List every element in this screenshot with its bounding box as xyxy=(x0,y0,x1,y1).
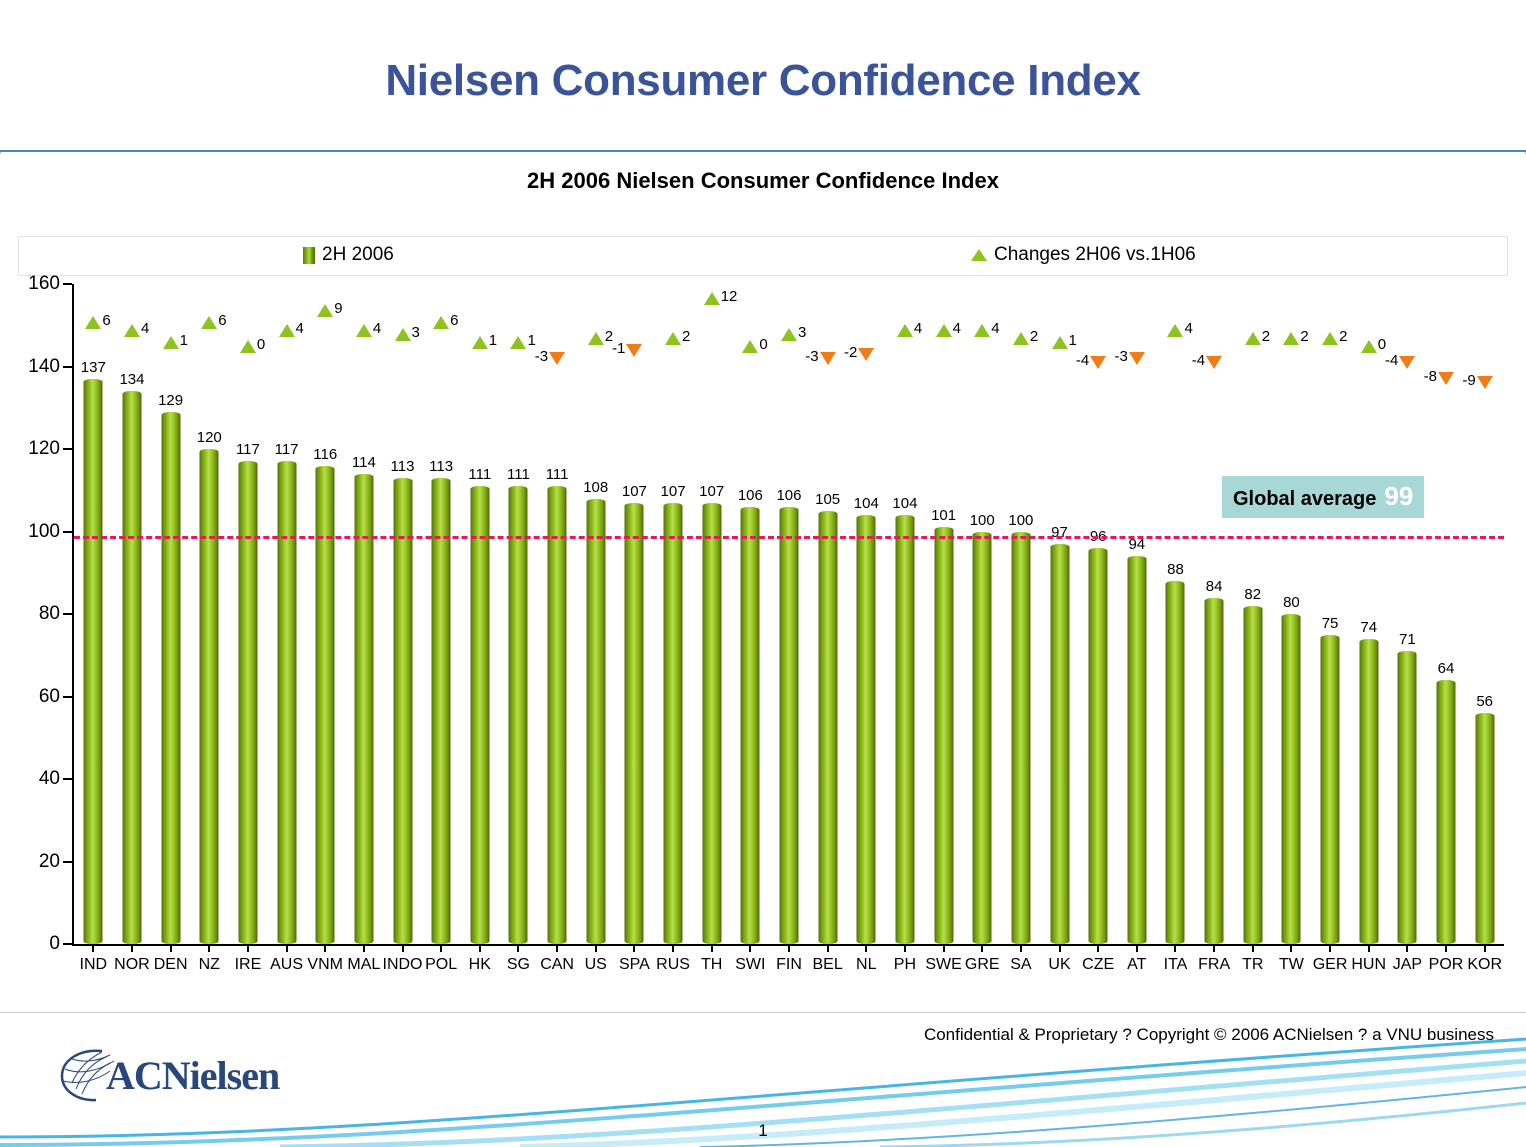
chart-bar[interactable] xyxy=(548,486,567,944)
chart-category-slot: 1014SWE xyxy=(924,284,963,944)
y-axis-tick-mark xyxy=(63,696,72,698)
chart-bar[interactable] xyxy=(1011,532,1030,945)
change-value-label: 2 xyxy=(1030,328,1038,345)
change-marker-down[interactable] xyxy=(858,348,874,361)
change-value-label: 4 xyxy=(373,320,381,337)
y-axis-tick-mark xyxy=(63,943,72,945)
bar-value-label: 137 xyxy=(81,359,106,376)
x-axis-tick-mark xyxy=(1406,944,1408,952)
change-value-label: -9 xyxy=(1462,372,1475,389)
change-value-label: 6 xyxy=(102,312,110,329)
change-value-label: -3 xyxy=(805,348,818,365)
chart-bar[interactable] xyxy=(1243,606,1262,944)
bar-value-label: 101 xyxy=(931,507,956,524)
change-marker-down[interactable] xyxy=(1129,352,1145,365)
global-average-value: 99 xyxy=(1384,481,1413,512)
change-value-label: 3 xyxy=(798,324,806,341)
legend-item-bars[interactable]: 2H 2006 xyxy=(303,244,394,266)
change-value-label: -3 xyxy=(1114,348,1127,365)
change-marker-up[interactable] xyxy=(124,324,140,337)
chart-bar[interactable] xyxy=(1398,651,1417,944)
chart-category-slot: 1144MAL xyxy=(345,284,384,944)
change-marker-up[interactable] xyxy=(1322,332,1338,345)
x-axis-tick-label: NOR xyxy=(114,956,150,974)
bar-value-label: 94 xyxy=(1128,536,1145,553)
y-axis-tick-label: 0 xyxy=(14,933,60,955)
change-value-label: 4 xyxy=(1184,320,1192,337)
chart-category-slot: 1206NZ xyxy=(190,284,229,944)
x-axis-tick-mark xyxy=(865,944,867,952)
chart-category-slot: 1082US xyxy=(576,284,615,944)
chart-category-slot: 107-1SPA xyxy=(615,284,654,944)
change-marker-up[interactable] xyxy=(510,336,526,349)
y-axis-tick-label: 120 xyxy=(14,438,60,460)
change-value-label: 2 xyxy=(1300,328,1308,345)
chart-plot-wrapper: 020406080100120140160 1376IND1344NOR1291… xyxy=(0,284,1526,984)
y-axis: 020406080100120140160 xyxy=(24,284,72,944)
change-value-label: 4 xyxy=(914,320,922,337)
slide-body: 2H 2006 Nielsen Consumer Confidence Inde… xyxy=(0,154,1526,1012)
y-axis-tick-mark xyxy=(63,861,72,863)
bar-value-label: 88 xyxy=(1167,561,1184,578)
x-axis-tick-label: NL xyxy=(856,956,876,974)
bar-value-label: 82 xyxy=(1244,586,1261,603)
change-marker-up[interactable] xyxy=(936,324,952,337)
chart-bar[interactable] xyxy=(277,461,296,944)
chart-category-slot: 1133INDO xyxy=(383,284,422,944)
chart-legend: 2H 2006 Changes 2H06 vs.1H06 xyxy=(18,236,1508,276)
chart-category-slot: 1291DEN xyxy=(151,284,190,944)
change-value-label: 1 xyxy=(489,332,497,349)
chart-category-slot: 1002SA xyxy=(1002,284,1041,944)
x-axis-tick-mark xyxy=(595,944,597,952)
bar-value-label: 71 xyxy=(1399,631,1416,648)
chart-category-slot: 1060SWI xyxy=(731,284,770,944)
x-axis-tick-mark xyxy=(1213,944,1215,952)
change-marker-down[interactable] xyxy=(1477,376,1493,389)
chart-bar[interactable] xyxy=(161,412,180,944)
slide-footer: Confidential & Proprietary ? Copyright ©… xyxy=(0,1012,1526,1146)
x-axis-tick-mark xyxy=(92,944,94,952)
change-value-label: -8 xyxy=(1424,368,1437,385)
chart-category-slot: 10712TH xyxy=(692,284,731,944)
change-marker-down[interactable] xyxy=(549,352,565,365)
y-axis-tick-mark xyxy=(63,778,72,780)
x-axis-tick-label: SG xyxy=(507,956,530,974)
y-axis-tick-label: 80 xyxy=(14,603,60,625)
chart-category-slot: 94-3AT xyxy=(1118,284,1157,944)
legend-label-bars: 2H 2006 xyxy=(322,244,394,266)
chart-bar[interactable] xyxy=(84,379,103,944)
change-value-label: -2 xyxy=(844,344,857,361)
x-axis-tick-mark xyxy=(1484,944,1486,952)
chart-bar[interactable] xyxy=(393,478,412,944)
change-marker-up[interactable] xyxy=(433,316,449,329)
chart-category-slot: 1170IRE xyxy=(229,284,268,944)
chart-bar[interactable] xyxy=(664,503,683,944)
x-axis-tick-mark xyxy=(1445,944,1447,952)
y-axis-tick-label: 100 xyxy=(14,521,60,543)
change-value-label: 1 xyxy=(527,332,535,349)
x-axis-tick-label: SWE xyxy=(925,956,961,974)
chart-title: 2H 2006 Nielsen Consumer Confidence Inde… xyxy=(0,168,1526,194)
change-marker-up[interactable] xyxy=(1013,332,1029,345)
chart-bar[interactable] xyxy=(1321,635,1340,944)
x-axis-tick-label: RUS xyxy=(656,956,690,974)
chart-category-slot: 752GER xyxy=(1311,284,1350,944)
x-axis-tick-label: SPA xyxy=(619,956,650,974)
chart-category-slot: 104-2NL xyxy=(847,284,886,944)
chart-bar[interactable] xyxy=(1437,680,1456,944)
chart-category-slot: 1063FIN xyxy=(770,284,809,944)
x-axis-tick-label: POR xyxy=(1429,956,1464,974)
change-value-label: -4 xyxy=(1076,352,1089,369)
change-value-label: 0 xyxy=(1378,336,1386,353)
x-axis-tick-label: CAN xyxy=(540,956,574,974)
y-axis-tick-mark xyxy=(63,613,72,615)
bar-value-label: 100 xyxy=(970,512,995,529)
bar-value-label: 106 xyxy=(738,487,763,504)
slide-header: Nielsen Consumer Confidence Index xyxy=(0,0,1526,152)
change-marker-up[interactable] xyxy=(665,332,681,345)
y-axis-tick-mark xyxy=(63,366,72,368)
global-average-label: Global average xyxy=(1233,488,1376,511)
x-axis-tick-mark xyxy=(1059,944,1061,952)
x-axis-tick-label: FRA xyxy=(1198,956,1230,974)
x-axis-tick-label: ITA xyxy=(1164,956,1188,974)
x-axis-tick-mark xyxy=(402,944,404,952)
y-axis-tick-mark xyxy=(63,531,72,533)
bar-value-label: 64 xyxy=(1438,660,1455,677)
x-axis-tick-mark xyxy=(1020,944,1022,952)
x-axis-tick-label: VNM xyxy=(307,956,343,974)
x-axis-tick-mark xyxy=(943,944,945,952)
y-axis-tick-mark xyxy=(63,448,72,450)
x-axis-tick-mark xyxy=(1252,944,1254,952)
triangle-up-icon xyxy=(971,249,987,261)
x-axis-tick-mark xyxy=(788,944,790,952)
y-axis-tick-mark xyxy=(63,283,72,285)
change-marker-up[interactable] xyxy=(1052,336,1068,349)
change-value-label: 4 xyxy=(296,320,304,337)
chart-category-slot: 64-8POR xyxy=(1427,284,1466,944)
chart-category-slot: 740HUN xyxy=(1349,284,1388,944)
change-marker-up[interactable] xyxy=(974,324,990,337)
chart-bar[interactable] xyxy=(238,461,257,944)
change-value-label: -3 xyxy=(535,348,548,365)
chart-category-slot: 971UK xyxy=(1040,284,1079,944)
chart-bar[interactable] xyxy=(1205,598,1224,945)
chart-bar[interactable] xyxy=(354,474,373,944)
change-marker-up[interactable] xyxy=(317,304,333,317)
chart-bar[interactable] xyxy=(122,391,141,944)
chart-bar[interactable] xyxy=(1166,581,1185,944)
change-marker-up[interactable] xyxy=(201,316,217,329)
x-axis-tick-label: FIN xyxy=(776,956,802,974)
x-axis-tick-mark xyxy=(363,944,365,952)
chart-category-slot: 71-4JAP xyxy=(1388,284,1427,944)
bar-value-label: 111 xyxy=(546,466,569,483)
x-axis-tick-mark xyxy=(904,944,906,952)
x-axis-tick-mark xyxy=(208,944,210,952)
x-axis-tick-label: GRE xyxy=(965,956,1000,974)
change-value-label: 1 xyxy=(1069,332,1077,349)
bar-value-label: 100 xyxy=(1008,512,1033,529)
x-axis-tick-label: GER xyxy=(1313,956,1348,974)
chart-bar[interactable] xyxy=(1089,548,1108,944)
x-axis-tick-label: AUS xyxy=(270,956,303,974)
bar-value-label: 104 xyxy=(892,495,917,512)
x-axis-tick-mark xyxy=(1368,944,1370,952)
x-axis-tick-label: CZE xyxy=(1082,956,1114,974)
legend-label-changes: Changes 2H06 vs.1H06 xyxy=(994,244,1196,266)
chart-bar[interactable] xyxy=(432,478,451,944)
chart-category-slot: 96-4CZE xyxy=(1079,284,1118,944)
chart-bar[interactable] xyxy=(973,532,992,945)
x-axis-tick-label: HK xyxy=(469,956,491,974)
chart-bar[interactable] xyxy=(818,511,837,944)
chart-category-slot: 1111SG xyxy=(499,284,538,944)
change-value-label: -1 xyxy=(612,340,625,357)
chart-category-slot: 105-3BEL xyxy=(808,284,847,944)
chart-category-slot: 822TR xyxy=(1233,284,1272,944)
x-axis-tick-mark xyxy=(827,944,829,952)
x-axis-tick-label: KOR xyxy=(1467,956,1502,974)
x-axis-tick-label: MAL xyxy=(347,956,380,974)
bar-value-label: 107 xyxy=(699,483,724,500)
x-axis-tick-label: SA xyxy=(1010,956,1031,974)
x-axis-tick-mark xyxy=(1136,944,1138,952)
chart-category-slot: 802TW xyxy=(1272,284,1311,944)
chart-bar[interactable] xyxy=(200,449,219,944)
change-value-label: 0 xyxy=(759,336,767,353)
bar-value-label: 84 xyxy=(1206,578,1223,595)
chart-bar[interactable] xyxy=(1359,639,1378,944)
chart-bar[interactable] xyxy=(895,515,914,944)
chart-category-slot: 1072RUS xyxy=(654,284,693,944)
change-value-label: 3 xyxy=(412,324,420,341)
x-axis-tick-label: TR xyxy=(1242,956,1263,974)
change-marker-down[interactable] xyxy=(626,344,642,357)
change-marker-up[interactable] xyxy=(897,324,913,337)
y-axis-tick-label: 60 xyxy=(14,686,60,708)
acnielsen-wordmark: ACNielsen xyxy=(106,1052,279,1099)
chart-bar[interactable] xyxy=(1050,544,1069,944)
change-marker-up[interactable] xyxy=(163,336,179,349)
change-marker-up[interactable] xyxy=(85,316,101,329)
x-axis-tick-mark xyxy=(672,944,674,952)
chart-bar[interactable] xyxy=(1475,713,1494,944)
x-axis-tick-label: BEL xyxy=(813,956,843,974)
bar-value-label: 107 xyxy=(661,483,686,500)
change-marker-down[interactable] xyxy=(1090,356,1106,369)
y-axis-tick-label: 20 xyxy=(14,851,60,873)
change-marker-up[interactable] xyxy=(1361,340,1377,353)
x-axis-tick-label: INDO xyxy=(383,956,423,974)
bar-value-label: 107 xyxy=(622,483,647,500)
x-axis-tick-label: SWI xyxy=(735,956,765,974)
bar-value-label: 117 xyxy=(236,441,260,458)
chart-bar[interactable] xyxy=(779,507,798,944)
y-axis-tick-label: 140 xyxy=(14,356,60,378)
x-axis-tick-mark xyxy=(286,944,288,952)
x-axis-tick-label: NZ xyxy=(199,956,220,974)
change-marker-up[interactable] xyxy=(279,324,295,337)
chart-category-slot: 1136POL xyxy=(422,284,461,944)
bar-value-label: 74 xyxy=(1360,619,1377,636)
x-axis-tick-label: DEN xyxy=(154,956,188,974)
legend-item-changes[interactable]: Changes 2H06 vs.1H06 xyxy=(971,244,1196,266)
change-marker-up[interactable] xyxy=(240,340,256,353)
chart-category-slot: 1344NOR xyxy=(113,284,152,944)
y-axis-tick-label: 40 xyxy=(14,768,60,790)
x-axis-tick-mark xyxy=(1174,944,1176,952)
page-title: Nielsen Consumer Confidence Index xyxy=(0,56,1526,106)
change-marker-up[interactable] xyxy=(472,336,488,349)
x-axis-tick-mark xyxy=(711,944,713,952)
chart-bar[interactable] xyxy=(509,486,528,944)
bar-value-label: 104 xyxy=(854,495,879,512)
change-value-label: -4 xyxy=(1385,352,1398,369)
change-value-label: 0 xyxy=(257,336,265,353)
x-axis-tick-mark xyxy=(749,944,751,952)
x-axis-tick-label: TH xyxy=(701,956,722,974)
chart-category-slot: 884ITA xyxy=(1156,284,1195,944)
change-value-label: 2 xyxy=(1339,328,1347,345)
chart-category-slot: 1111HK xyxy=(460,284,499,944)
change-value-label: -4 xyxy=(1192,352,1205,369)
bar-value-label: 120 xyxy=(197,429,222,446)
change-value-label: 4 xyxy=(141,320,149,337)
x-axis-tick-label: UK xyxy=(1048,956,1070,974)
change-value-label: 9 xyxy=(334,300,342,317)
chart-category-slot: 1174AUS xyxy=(267,284,306,944)
bar-swatch-icon xyxy=(303,247,315,264)
change-marker-up[interactable] xyxy=(1167,324,1183,337)
x-axis-tick-mark xyxy=(1097,944,1099,952)
chart-bar[interactable] xyxy=(934,527,953,944)
change-value-label: 4 xyxy=(953,320,961,337)
x-axis-tick-label: IND xyxy=(80,956,108,974)
bar-value-label: 75 xyxy=(1322,615,1339,632)
x-axis-tick-mark xyxy=(517,944,519,952)
change-marker-up[interactable] xyxy=(1245,332,1261,345)
change-marker-down[interactable] xyxy=(1206,356,1222,369)
confidentiality-notice: Confidential & Proprietary ? Copyright ©… xyxy=(924,1025,1494,1045)
bar-value-label: 111 xyxy=(507,466,530,483)
change-value-label: 6 xyxy=(218,312,226,329)
change-marker-down[interactable] xyxy=(1438,372,1454,385)
x-axis-tick-label: HUN xyxy=(1351,956,1386,974)
change-marker-up[interactable] xyxy=(704,292,720,305)
bar-value-label: 108 xyxy=(583,479,608,496)
x-axis-tick-mark xyxy=(324,944,326,952)
bar-value-label: 113 xyxy=(429,458,453,475)
chart-bar[interactable] xyxy=(702,503,721,944)
change-marker-up[interactable] xyxy=(781,328,797,341)
bar-value-label: 80 xyxy=(1283,594,1300,611)
acnielsen-logo: ACNielsen xyxy=(58,1047,279,1103)
plot-area: 1376IND1344NOR1291DEN1206NZ1170IRE1174AU… xyxy=(74,284,1504,944)
x-axis-tick-label: JAP xyxy=(1393,956,1422,974)
bar-value-label: 113 xyxy=(391,458,415,475)
chart-bar[interactable] xyxy=(741,507,760,944)
chart-bar[interactable] xyxy=(1282,614,1301,944)
change-value-label: 1 xyxy=(180,332,188,349)
bar-value-label: 129 xyxy=(158,392,183,409)
x-axis-tick-label: US xyxy=(585,956,607,974)
change-value-label: 6 xyxy=(450,312,458,329)
x-axis-tick-mark xyxy=(440,944,442,952)
bar-value-label: 111 xyxy=(468,466,491,483)
bar-value-label: 117 xyxy=(275,441,299,458)
bar-value-label: 106 xyxy=(776,487,801,504)
change-value-label: 4 xyxy=(991,320,999,337)
x-axis-tick-mark xyxy=(556,944,558,952)
global-average-line xyxy=(74,536,1504,539)
bar-value-label: 114 xyxy=(352,454,376,471)
x-axis-tick-label: AT xyxy=(1127,956,1146,974)
x-axis-tick-label: PH xyxy=(894,956,916,974)
chart-category-slot: 84-4FRA xyxy=(1195,284,1234,944)
x-axis-tick-mark xyxy=(1290,944,1292,952)
x-axis-tick-mark xyxy=(170,944,172,952)
change-marker-up[interactable] xyxy=(588,332,604,345)
x-axis-tick-mark xyxy=(633,944,635,952)
change-marker-down[interactable] xyxy=(1399,356,1415,369)
bar-value-label: 105 xyxy=(815,491,840,508)
y-axis-tick-label: 160 xyxy=(14,273,60,295)
x-axis-tick-label: IRE xyxy=(235,956,262,974)
change-marker-up[interactable] xyxy=(742,340,758,353)
change-marker-down[interactable] xyxy=(820,352,836,365)
x-axis-tick-mark xyxy=(981,944,983,952)
change-marker-up[interactable] xyxy=(1283,332,1299,345)
x-axis-tick-mark xyxy=(479,944,481,952)
bar-value-label: 134 xyxy=(119,371,144,388)
change-marker-up[interactable] xyxy=(356,324,372,337)
x-axis-tick-mark xyxy=(247,944,249,952)
change-value-label: 2 xyxy=(682,328,690,345)
change-marker-up[interactable] xyxy=(395,328,411,341)
x-axis-tick-label: TW xyxy=(1279,956,1304,974)
chart-category-slot: 1004GRE xyxy=(963,284,1002,944)
chart-category-slot: 1376IND xyxy=(74,284,113,944)
global-average-badge: Global average 99 xyxy=(1222,476,1424,518)
chart-bar[interactable] xyxy=(1127,556,1146,944)
x-axis-tick-mark xyxy=(1329,944,1331,952)
chart-bar[interactable] xyxy=(470,486,489,944)
chart-category-slot: 1044PH xyxy=(886,284,925,944)
x-axis-tick-label: POL xyxy=(425,956,457,974)
chart-category-slot: 111-3CAN xyxy=(538,284,577,944)
chart-bar[interactable] xyxy=(857,515,876,944)
bar-value-label: 56 xyxy=(1476,693,1493,710)
chart-bar[interactable] xyxy=(625,503,644,944)
change-value-label: 2 xyxy=(1262,328,1270,345)
x-axis-tick-mark xyxy=(131,944,133,952)
chart-bar[interactable] xyxy=(586,499,605,945)
chart-category-slot: 1169VNM xyxy=(306,284,345,944)
page-number: 1 xyxy=(0,1121,1526,1141)
chart-category-slot: 56-9KOR xyxy=(1465,284,1504,944)
bar-value-label: 116 xyxy=(313,446,337,463)
